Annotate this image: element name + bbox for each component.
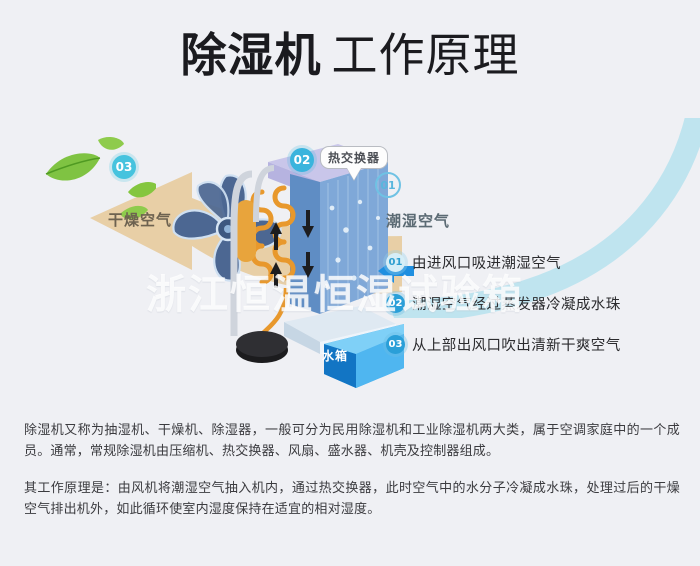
illustration-badge-01: 01 xyxy=(375,172,401,198)
page-title: 除湿机工作原理 xyxy=(0,26,700,84)
step-badge-02: 02 xyxy=(386,294,405,313)
illustration-badge-02: 02 xyxy=(290,148,314,172)
label-water-tank: 水箱 xyxy=(322,347,348,364)
body-paragraph-1: 除湿机又称为抽湿机、干燥机、除湿器，一般可分为民用除湿机和工业除湿机两大类，属于… xyxy=(24,420,680,462)
step-badge-01: 01 xyxy=(386,253,405,272)
page-title-main: 除湿机 xyxy=(181,28,322,82)
step-text-03: 从上部出风口吹出清新干爽空气 xyxy=(412,334,621,355)
heat-exchanger-callout: 热交换器 xyxy=(320,146,388,169)
list-item: 01 由进风口吸进潮湿空气 xyxy=(386,252,686,273)
label-dry-air: 干燥空气 xyxy=(108,209,172,230)
list-item: 03 从上部出风口吹出清新干爽空气 xyxy=(386,334,686,355)
infographic-page: 除湿机工作原理 xyxy=(0,0,700,566)
step-text-01: 由进风口吸进潮湿空气 xyxy=(412,252,561,273)
step-text-02: 潮湿空气经过蒸发器冷凝成水珠 xyxy=(412,293,621,314)
label-humid-air: 潮湿空气 xyxy=(386,210,450,231)
page-title-sub: 工作原理 xyxy=(332,28,520,82)
step-badge-03: 03 xyxy=(386,335,405,354)
illustration-badge-03: 03 xyxy=(112,155,136,179)
steps-list: 01 由进风口吸进潮湿空气 02 潮湿空气经过蒸发器冷凝成水珠 03 从上部出风… xyxy=(386,252,686,375)
list-item: 02 潮湿空气经过蒸发器冷凝成水珠 xyxy=(386,293,686,314)
body-paragraph-2: 其工作原理是：由风机将潮湿空气抽入机内，通过热交换器，此时空气中的水分子冷凝成水… xyxy=(24,478,680,520)
body-copy: 除湿机又称为抽湿机、干燥机、除湿器，一般可分为民用除湿机和工业除湿机两大类，属于… xyxy=(24,420,680,536)
